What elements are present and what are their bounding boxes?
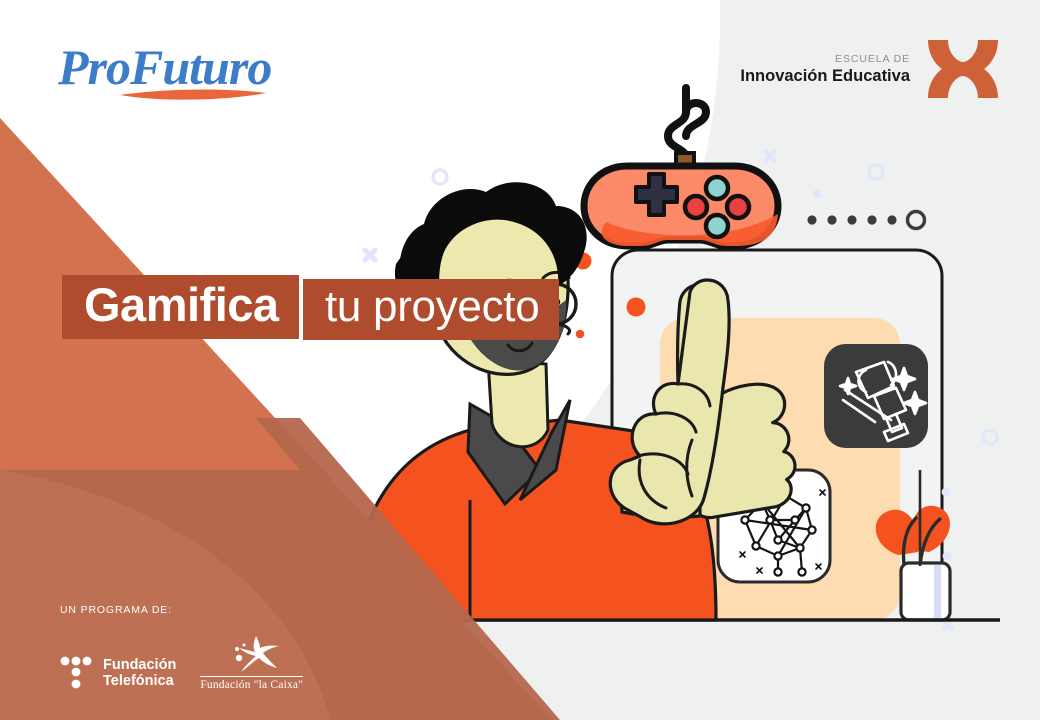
page-title-line2: tu proyecto bbox=[303, 279, 559, 340]
escuela-badge-text: ESCUELA DE Innovación Educativa bbox=[740, 54, 910, 84]
page-title-line1: Gamifica bbox=[62, 275, 299, 339]
footer-label: UN PROGRAMA DE: bbox=[60, 604, 303, 616]
x-logo-icon bbox=[924, 38, 1002, 100]
fundacion-telefonica-logo[interactable]: Fundación Telefónica bbox=[60, 655, 176, 691]
profuturo-wordmark: ProFuturo bbox=[57, 39, 271, 95]
escuela-badge[interactable]: ESCUELA DE Innovación Educativa bbox=[740, 38, 1002, 100]
fundacion-la-caixa-logo[interactable]: Fundación "la Caixa" bbox=[200, 634, 303, 691]
caixa-text: Fundación "la Caixa" bbox=[200, 676, 303, 691]
telefonica-text: Fundación Telefónica bbox=[103, 657, 176, 689]
caixa-star-icon bbox=[223, 634, 281, 674]
page-title: Gamifica tu proyecto bbox=[62, 275, 559, 340]
footer-sponsors: UN PROGRAMA DE: Fundación Telefónica bbox=[60, 604, 303, 691]
escuela-name: Innovación Educativa bbox=[740, 68, 910, 85]
telefonica-dots-icon bbox=[60, 655, 94, 691]
poster-canvas: ProFuturo ESCUELA DE Innovación Educativ… bbox=[0, 0, 1040, 720]
telefonica-line1: Fundación bbox=[103, 657, 176, 673]
profuturo-logo[interactable]: ProFuturo bbox=[58, 36, 288, 106]
escuela-eyebrow: ESCUELA DE bbox=[740, 54, 910, 65]
telefonica-line2: Telefónica bbox=[103, 673, 176, 689]
footer-logo-row: Fundación Telefónica Fundación "la Caixa… bbox=[60, 634, 303, 691]
